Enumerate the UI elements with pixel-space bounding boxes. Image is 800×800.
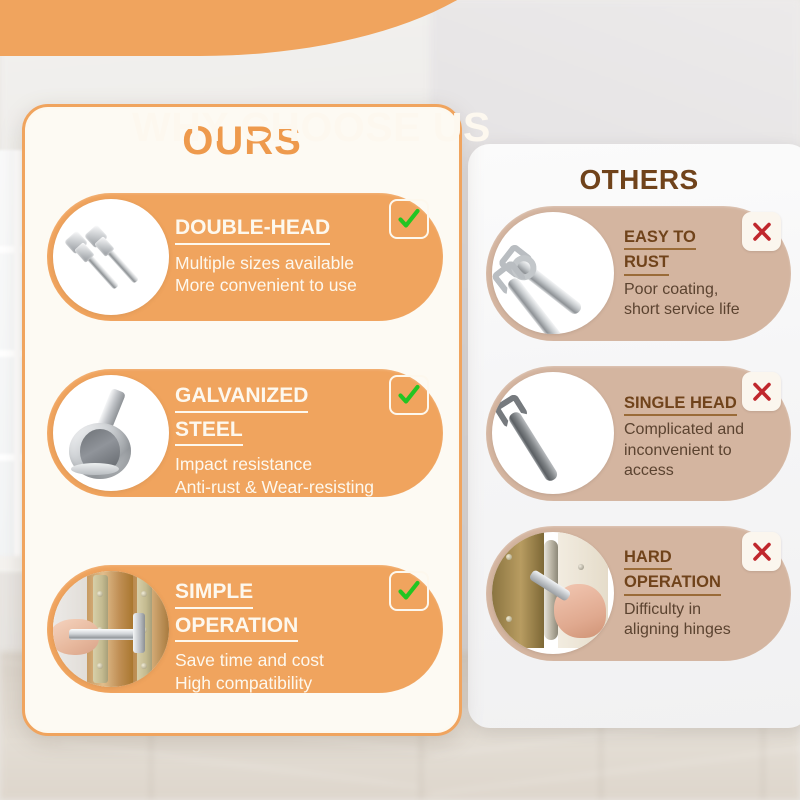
others-card-text: EASY TO RUST Poor coating, short service… — [624, 228, 781, 321]
others-card-heading-line: SINGLE HEAD — [624, 394, 737, 416]
ours-card-image-door-install — [53, 571, 169, 687]
ours-panel: OURS DOUBLE-HEAD Multiple sizes availabl… — [22, 104, 462, 736]
ours-card-galvanized-steel[interactable]: GALVANIZED STEEL Impact resistance Anti-… — [47, 369, 443, 497]
ours-card-double-head[interactable]: DOUBLE-HEAD Multiple sizes available Mor… — [47, 193, 443, 321]
ours-card-body-line: Impact resistance — [175, 453, 435, 475]
ours-card-text: GALVANIZED STEEL Impact resistance Anti-… — [175, 383, 435, 498]
ours-card-body-line: More convenient to use — [175, 274, 435, 296]
ours-card-heading-line: GALVANIZED — [175, 383, 308, 413]
others-panel: OTHERS EASY TO RUST Poor coating, shor — [468, 144, 800, 728]
others-card-heading-line: RUST — [624, 253, 669, 275]
others-card-body-line: aligning hinges — [624, 620, 781, 640]
others-card-image-hinge-wrench — [492, 532, 614, 654]
others-card-heading-line: OPERATION — [624, 573, 721, 595]
ours-card-heading-line: DOUBLE-HEAD — [175, 215, 330, 245]
others-card-text: HARD OPERATION Difficulty in aligning hi… — [624, 548, 781, 641]
others-card-body-line: access — [624, 461, 781, 481]
others-card-easy-to-rust[interactable]: EASY TO RUST Poor coating, short service… — [486, 206, 791, 341]
others-card-body-line: Poor coating, — [624, 280, 781, 300]
ours-card-body-line: Save time and cost — [175, 649, 435, 671]
others-card-body-line: Complicated and — [624, 420, 781, 440]
others-card-image-wrenches — [492, 212, 614, 334]
page-title: WHY CHOOSE US — [132, 104, 491, 151]
others-card-text: SINGLE HEAD Complicated and inconvenient… — [624, 394, 781, 481]
others-card-body-line: Difficulty in — [624, 600, 781, 620]
others-card-body-line: short service life — [624, 300, 781, 320]
ours-card-image-galvanized-fitting — [53, 375, 169, 491]
others-panel-title: OTHERS — [468, 164, 800, 196]
others-card-hard-operation[interactable]: HARD OPERATION Difficulty in aligning hi… — [486, 526, 791, 661]
ours-card-heading-line: SIMPLE — [175, 579, 253, 609]
ours-card-body-line: High compatibility — [175, 672, 435, 694]
ours-card-body-line: Anti-rust & Wear-resisting — [175, 476, 435, 498]
ours-card-simple-operation[interactable]: SIMPLE OPERATION Save time and cost High… — [47, 565, 443, 693]
others-card-single-head[interactable]: SINGLE HEAD Complicated and inconvenient… — [486, 366, 791, 501]
ours-card-text: SIMPLE OPERATION Save time and cost High… — [175, 579, 435, 694]
ours-card-image-double-head-bolts — [53, 199, 169, 315]
ours-card-heading-line: OPERATION — [175, 613, 298, 643]
ours-card-heading-line: STEEL — [175, 417, 243, 447]
ours-card-body-line: Multiple sizes available — [175, 252, 435, 274]
others-card-body-line: inconvenient to — [624, 441, 781, 461]
others-card-heading-line: HARD — [624, 548, 672, 570]
others-card-image-single-wrench — [492, 372, 614, 494]
ours-card-text: DOUBLE-HEAD Multiple sizes available Mor… — [175, 215, 435, 296]
others-card-heading-line: EASY TO — [624, 228, 696, 250]
